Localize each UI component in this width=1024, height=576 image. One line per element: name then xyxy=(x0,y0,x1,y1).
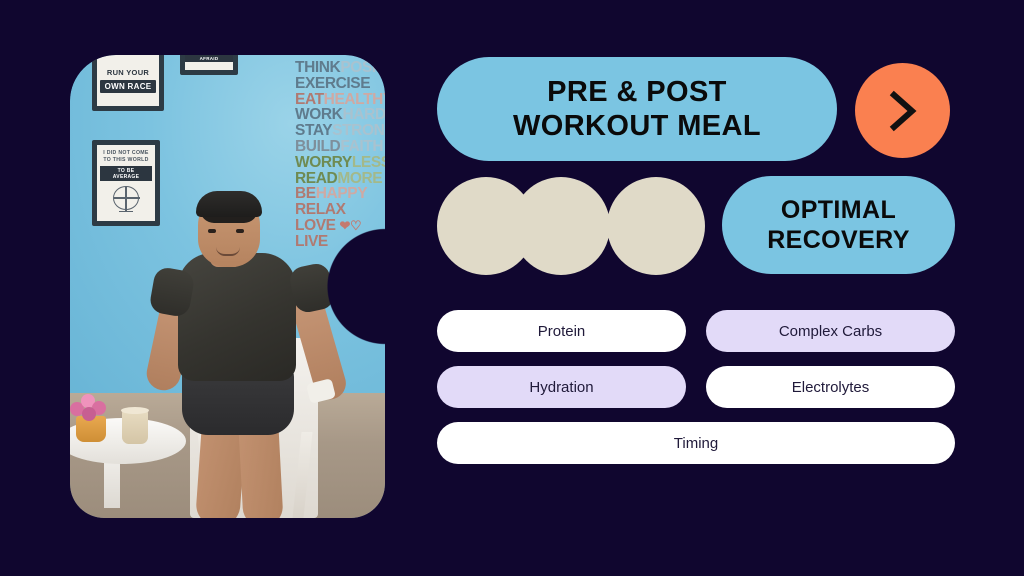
decal-word: EAT xyxy=(295,91,324,108)
decal-word: STAY xyxy=(295,122,332,139)
next-button[interactable] xyxy=(855,63,950,158)
poster-line-1: I DID NOT COME TO THIS WORLD xyxy=(100,150,152,164)
hero-photo-frame: RUN YOUR OWN RACE DO NOT BE AFRAID I DID… xyxy=(70,55,385,518)
torso-tshirt xyxy=(178,253,296,381)
title-line-2: WORKOUT MEAL xyxy=(513,110,761,142)
person-figure xyxy=(148,195,328,518)
topic-chip-complex-carbs[interactable]: Complex Carbs xyxy=(706,310,955,352)
optimal-recovery-badge: OPTIMAL RECOVERY xyxy=(722,176,955,274)
globe-stand xyxy=(119,211,133,216)
decal-word: EXERCISE xyxy=(295,75,370,92)
poster-line-1: RUN YOUR xyxy=(107,68,149,77)
recovery-line-2: RECOVERY xyxy=(767,226,910,254)
title-line-1: PRE & POST xyxy=(547,76,727,108)
flowers xyxy=(70,392,114,422)
topic-list: Protein Complex Carbs Hydration Electrol… xyxy=(437,310,955,464)
poster-line-2: OWN RACE xyxy=(100,80,157,93)
decal-word: THINK xyxy=(295,59,340,76)
decal-word-light: POSITIVE xyxy=(340,59,385,76)
topic-chip-timing[interactable]: Timing xyxy=(437,422,955,464)
heart-icon: ❤♡ xyxy=(340,218,362,233)
eye-left xyxy=(208,229,216,233)
chevron-right-icon xyxy=(886,89,920,133)
eye-right xyxy=(236,229,244,233)
decal-word-light: STRONG xyxy=(332,122,385,139)
decorative-circle-2 xyxy=(512,177,610,275)
poster-line-1: DO NOT BE AFRAID xyxy=(185,55,233,62)
decal-word-light: FAITH xyxy=(340,138,383,155)
wall-poster-run-your-own-race: RUN YOUR OWN RACE xyxy=(92,55,164,111)
globe-icon xyxy=(113,186,139,210)
slide-title: PRE & POST WORKOUT MEAL xyxy=(437,57,837,161)
decorative-circle-3 xyxy=(607,177,705,275)
recovery-line-1: OPTIMAL xyxy=(781,196,896,224)
drink-cup xyxy=(122,410,148,444)
decal-word-light: LESS xyxy=(352,154,385,171)
decal-word-light: HARD xyxy=(342,106,385,123)
hero-photo: RUN YOUR OWN RACE DO NOT BE AFRAID I DID… xyxy=(70,55,385,518)
topic-chip-electrolytes[interactable]: Electrolytes xyxy=(706,366,955,408)
decal-word: READ xyxy=(295,170,337,187)
decal-word-light: MORE xyxy=(337,170,382,187)
decal-word-light: HEALTHY xyxy=(324,91,385,108)
topic-chip-hydration[interactable]: Hydration xyxy=(437,366,686,408)
wall-poster-secondary: DO NOT BE AFRAID xyxy=(180,55,238,75)
decal-word: WORRY xyxy=(295,154,352,171)
decal-word: BUILD xyxy=(295,138,340,155)
decal-word: WORK xyxy=(295,106,342,123)
poster-line-2: TO BE AVERAGE xyxy=(100,166,152,181)
headband xyxy=(196,191,262,217)
slide-canvas: RUN YOUR OWN RACE DO NOT BE AFRAID I DID… xyxy=(0,0,1024,576)
topic-chip-protein[interactable]: Protein xyxy=(437,310,686,352)
